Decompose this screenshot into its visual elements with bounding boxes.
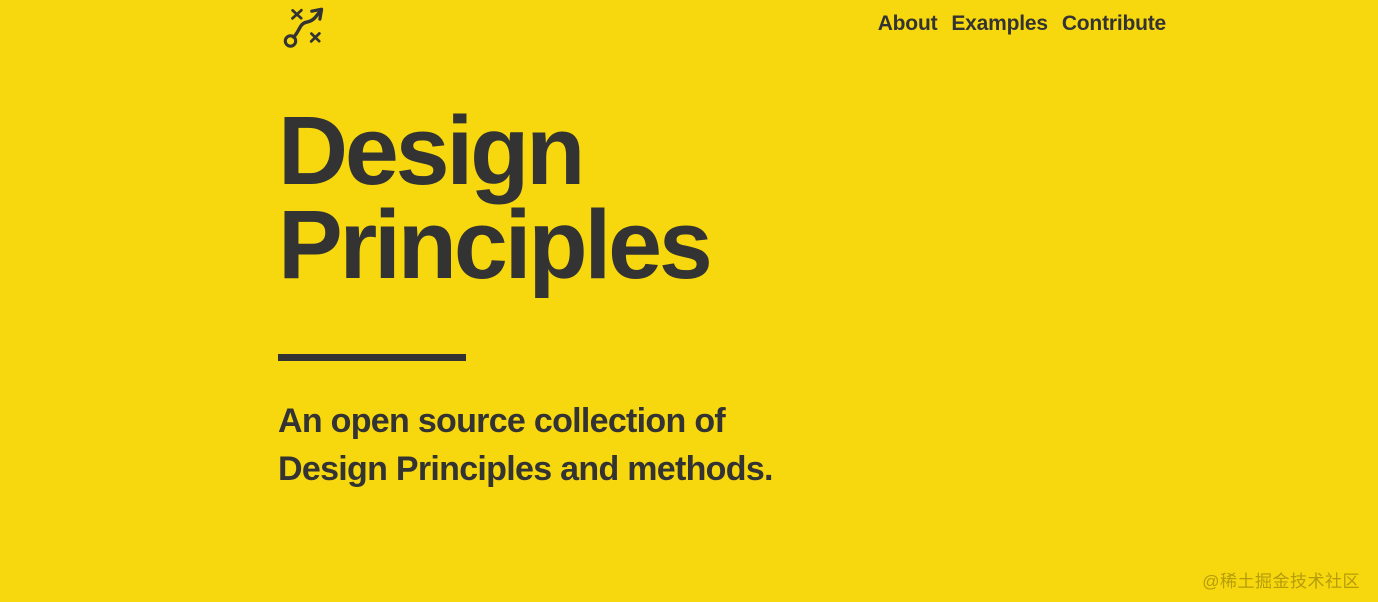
logo-link[interactable] — [280, 3, 332, 51]
nav-link-examples[interactable]: Examples — [951, 13, 1047, 34]
page-title-line-1: Design — [278, 104, 1178, 198]
main-nav: About Examples Contribute — [878, 13, 1166, 34]
hero-divider — [278, 354, 466, 361]
page-title-line-2: Principles — [278, 198, 1178, 292]
strategy-path-arrow-icon — [280, 3, 332, 51]
hero-subtitle: An open source collection of Design Prin… — [278, 397, 838, 493]
page-title: Design Principles — [278, 104, 1178, 292]
nav-link-about[interactable]: About — [878, 13, 938, 34]
watermark: @稀土掘金技术社区 — [1202, 567, 1360, 592]
nav-link-contribute[interactable]: Contribute — [1062, 13, 1166, 34]
hero-section: Design Principles An open source collect… — [278, 104, 1178, 493]
site-header: About Examples Contribute — [0, 0, 1378, 58]
